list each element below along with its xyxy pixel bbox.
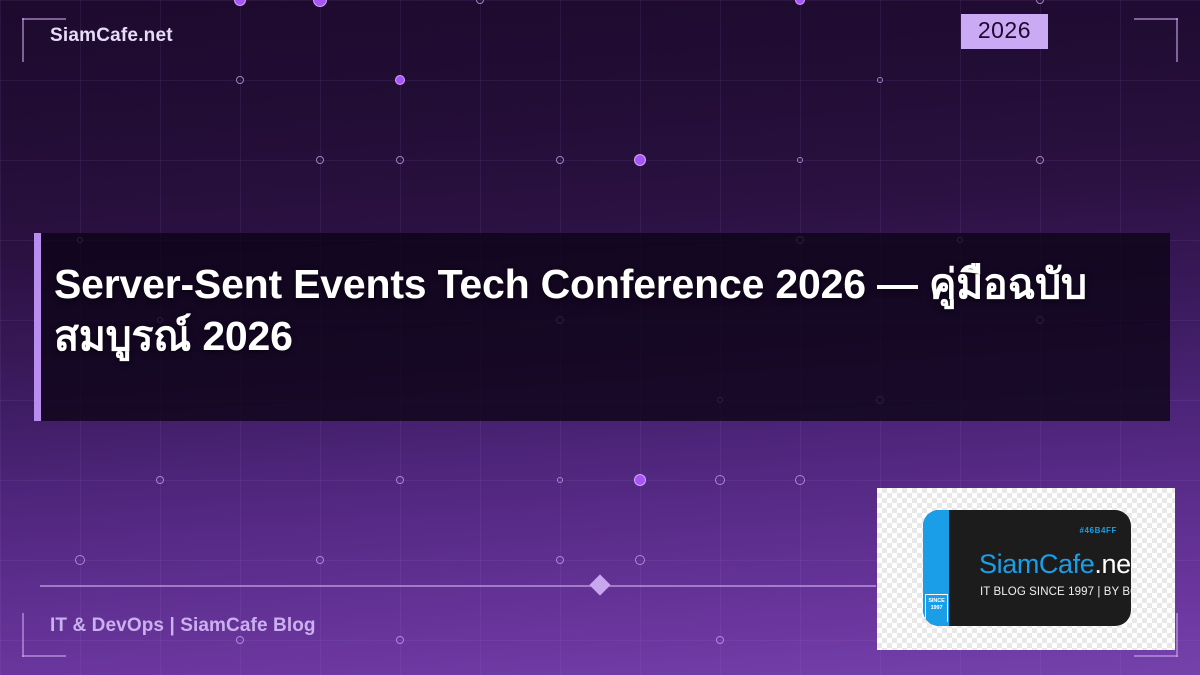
hero-banner: SiamCafe.net 2026 Server-Sent Events Tec… [0,0,1200,675]
background-dot [236,636,244,644]
title-accent-bar [34,233,41,421]
corner-bracket-top-right-icon [1134,18,1178,62]
logo-brand-suffix: .net [1094,549,1131,579]
background-dot [716,636,724,644]
logo-brand-primary: SiamCafe [979,549,1094,579]
site-name: SiamCafe.net [50,26,173,45]
background-dot [556,556,564,564]
background-dot [797,157,803,163]
background-dot [635,555,645,565]
year-badge: 2026 [961,14,1048,49]
background-dot [313,0,327,7]
footer-divider [40,585,876,587]
background-dot [795,0,805,5]
background-dot [1036,156,1044,164]
background-dot [795,475,805,485]
background-dot [316,556,324,564]
background-dot [715,475,725,485]
background-dot [396,156,404,164]
background-dot [556,156,564,164]
background-dot [476,0,484,4]
background-dot [316,156,324,164]
background-dot [156,476,164,484]
logo-hex-code: #46B4FF [1079,526,1117,535]
footer-tagline: IT & DevOps | SiamCafe Blog [50,615,316,637]
page-title: Server-Sent Events Tech Conference 2026 … [54,258,1144,362]
background-dot [396,476,404,484]
background-dot [634,474,646,486]
background-dot [1036,0,1044,4]
background-dot [396,636,404,644]
logo-inner: SINCE 1997 #46B4FF SiamCafe.net IT BLOG … [923,510,1131,626]
background-dot [557,477,563,483]
logo-tagline: IT BLOG SINCE 1997 | BY BOM [980,586,1131,598]
background-dot [634,154,646,166]
logo-card: SINCE 1997 #46B4FF SiamCafe.net IT BLOG … [877,488,1175,650]
background-dot [395,75,405,85]
ribbon-line-2: 1997 [931,605,943,612]
background-dot [236,76,244,84]
diamond-marker-icon [589,574,610,595]
background-dot [877,77,883,83]
background-dot [75,555,85,565]
background-dot [234,0,246,6]
logo-wordmark: SiamCafe.net [979,551,1131,578]
